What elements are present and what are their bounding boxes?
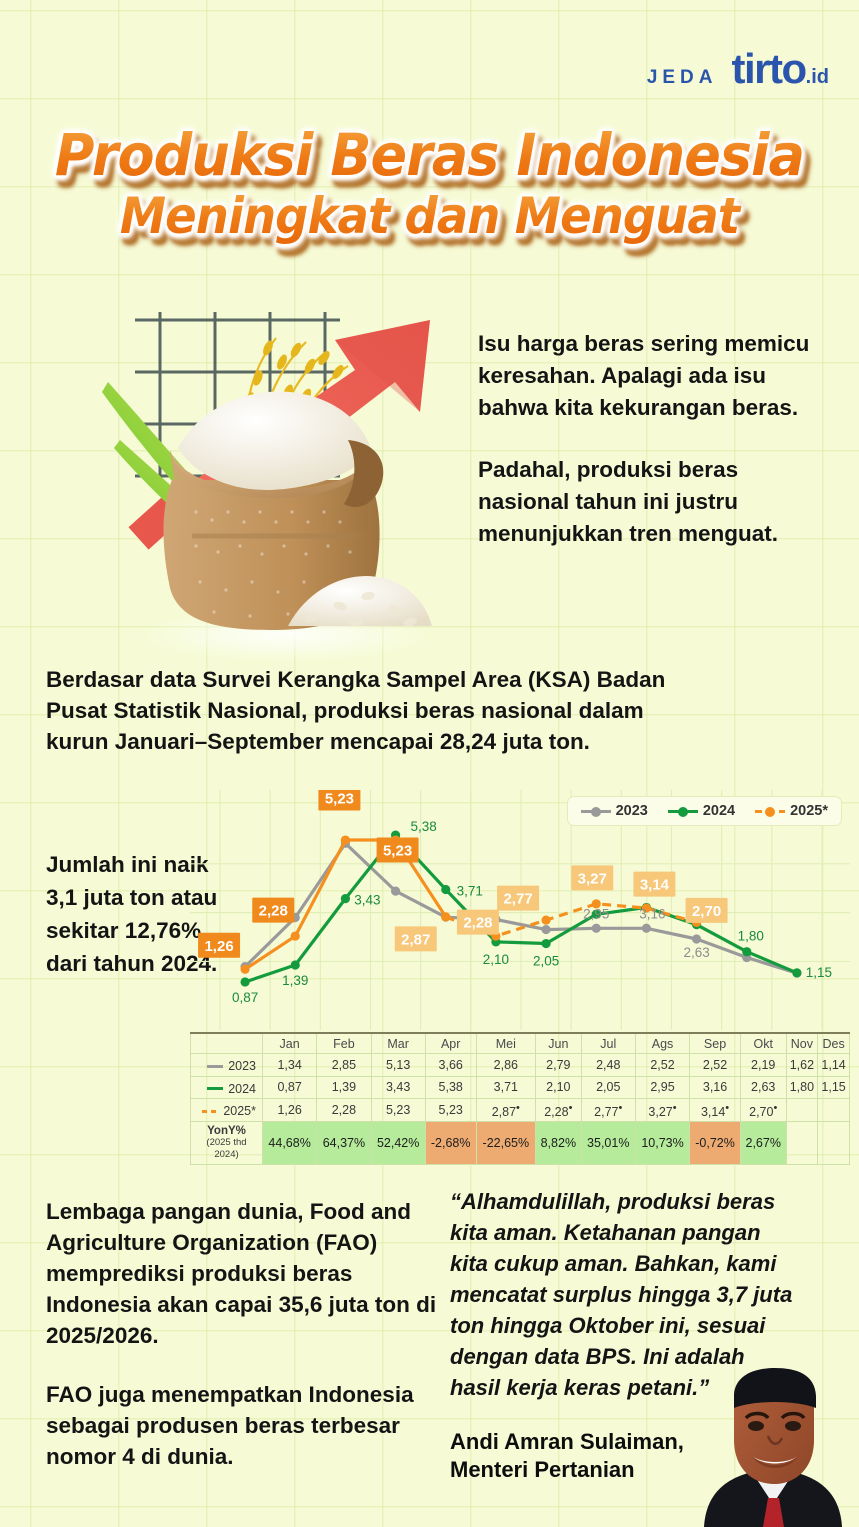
yony-sublabel-text: (2025 thd 2024) xyxy=(193,1137,260,1161)
table-header-row: JanFebMarAprMeiJunJulAgsSepOktNovDes xyxy=(191,1033,850,1054)
table-cell: 0,87 xyxy=(263,1076,317,1099)
estimate-star-icon: • xyxy=(673,1102,677,1114)
estimate-star-icon: • xyxy=(773,1102,777,1114)
svg-text:3,14: 3,14 xyxy=(640,877,670,894)
legend-swatch-2025-icon xyxy=(755,805,785,817)
chart-data-table: JanFebMarAprMeiJunJulAgsSepOktNovDes 202… xyxy=(190,1032,850,1165)
tirto-logo-text: tirto xyxy=(732,45,806,92)
table-col-header-okt: Okt xyxy=(740,1033,786,1054)
table-cell: 1,34 xyxy=(263,1054,317,1077)
estimate-star-icon: • xyxy=(619,1102,623,1114)
table-cell: 3,14• xyxy=(690,1099,741,1122)
table-cell: 5,23 xyxy=(425,1099,476,1122)
table-cell: 3,43 xyxy=(371,1076,425,1099)
table-cell: 2,95 xyxy=(635,1076,689,1099)
svg-text:2,05: 2,05 xyxy=(533,954,559,969)
row-line-swatch-icon xyxy=(202,1110,218,1113)
legend-swatch-2023-icon xyxy=(581,805,611,817)
table-row-label-2024: 2024 xyxy=(191,1076,263,1099)
svg-text:2,70: 2,70 xyxy=(692,903,721,920)
table-cell: 2,85 xyxy=(317,1054,371,1077)
yony-cell: 64,37% xyxy=(317,1122,371,1165)
tirto-tld-text: .id xyxy=(806,66,829,88)
intro-paragraph-2: Padahal, produksi beras nasional tahun i… xyxy=(478,454,828,550)
infographic-page: JEDA tirto.id Produksi Beras Indonesia M… xyxy=(0,0,859,1527)
table-cell: 5,38 xyxy=(425,1076,476,1099)
legend-swatch-2024-icon xyxy=(668,805,698,817)
yony-label-text: YonY% xyxy=(207,1125,246,1137)
yony-cell xyxy=(818,1122,850,1165)
rice-sack-illustration xyxy=(100,300,460,660)
table-cell: 2,79 xyxy=(536,1054,582,1077)
legend-label-2025: 2025* xyxy=(790,803,828,819)
table-cell: 5,23 xyxy=(371,1099,425,1122)
table-row-label-2025: 2025* xyxy=(191,1099,263,1122)
table-cell xyxy=(818,1099,850,1122)
table-cell: 1,26 xyxy=(263,1099,317,1122)
yony-cell: 35,01% xyxy=(581,1122,635,1165)
table-col-header-nov: Nov xyxy=(786,1033,818,1054)
intro-text-block: Isu harga beras sering memicu keresahan.… xyxy=(478,328,828,550)
table-cell: 2,52 xyxy=(635,1054,689,1077)
svg-text:1,39: 1,39 xyxy=(282,973,308,988)
legend-item-2024: 2024 xyxy=(668,803,735,819)
brand-masthead: JEDA tirto.id xyxy=(647,48,829,90)
table-cell: 3,71 xyxy=(476,1076,535,1099)
table-cell: 2,10 xyxy=(536,1076,582,1099)
table-cell: 3,16 xyxy=(690,1076,741,1099)
table-row: 20240,871,393,435,383,712,102,052,953,16… xyxy=(191,1076,850,1099)
table-cell: 1,14 xyxy=(818,1054,850,1077)
svg-text:2,87: 2,87 xyxy=(401,931,430,948)
svg-text:2,28: 2,28 xyxy=(463,915,492,932)
svg-text:2,77: 2,77 xyxy=(503,891,532,908)
fao-paragraph-2: FAO juga menempatkan Indonesia sebagai p… xyxy=(46,1379,446,1472)
table-cell: 2,86 xyxy=(476,1054,535,1077)
svg-text:2,95: 2,95 xyxy=(583,906,609,921)
table-col-header-des: Des xyxy=(818,1033,850,1054)
portrait-figure xyxy=(704,1368,842,1527)
table-cell: 2,19 xyxy=(740,1054,786,1077)
table-row: 20231,342,855,133,662,862,792,482,522,52… xyxy=(191,1054,850,1077)
row-line-swatch-icon xyxy=(207,1087,223,1090)
chart-canvas: 0,871,393,435,383,712,102,051,801,152,95… xyxy=(190,790,850,1030)
yony-cell: 2,67% xyxy=(740,1122,786,1165)
fao-paragraph-1: Lembaga pangan dunia, Food and Agricultu… xyxy=(46,1196,446,1351)
table-col-header-jul: Jul xyxy=(581,1033,635,1054)
fao-text-block: Lembaga pangan dunia, Food and Agricultu… xyxy=(46,1196,446,1472)
table-cell: 2,28• xyxy=(536,1099,582,1122)
svg-text:2,10: 2,10 xyxy=(483,952,509,967)
title-line-1: Produksi Beras Indonesia xyxy=(30,124,829,186)
table-col-header-mei: Mei xyxy=(476,1033,535,1054)
row-line-swatch-icon xyxy=(207,1065,223,1068)
row-label-text: 2025* xyxy=(223,1104,256,1118)
table-col-header-mar: Mar xyxy=(371,1033,425,1054)
table-cell: 3,66 xyxy=(425,1054,476,1077)
table-cell: 1,80 xyxy=(786,1076,818,1099)
estimate-star-icon: • xyxy=(569,1102,573,1114)
table-cell: 2,87• xyxy=(476,1099,535,1122)
yony-cell: -2,68% xyxy=(425,1122,476,1165)
legend-item-2023: 2023 xyxy=(581,803,648,819)
yony-cell: 44,68% xyxy=(263,1122,317,1165)
table-row-label-2023: 2023 xyxy=(191,1054,263,1077)
production-line-chart: 0,871,393,435,383,712,102,051,801,152,95… xyxy=(190,790,850,1030)
intro-paragraph-1: Isu harga beras sering memicu keresahan.… xyxy=(478,328,828,424)
yony-cell: -0,72% xyxy=(690,1122,741,1165)
table-row-yony: YonY%(2025 thd 2024)44,68%64,37%52,42%-2… xyxy=(191,1122,850,1165)
lead-paragraph: Berdasar data Survei Kerangka Sampel Are… xyxy=(46,664,666,757)
table-cell: 2,63 xyxy=(740,1076,786,1099)
table-col-header-feb: Feb xyxy=(317,1033,371,1054)
table-col-header-sep: Sep xyxy=(690,1033,741,1054)
chart-legend: 2023 2024 2025* xyxy=(567,796,842,826)
yony-cell xyxy=(786,1122,818,1165)
svg-text:3,43: 3,43 xyxy=(354,893,380,908)
yony-cell: -22,65% xyxy=(476,1122,535,1165)
table-cell: 2,48 xyxy=(581,1054,635,1077)
table-col-header-jun: Jun xyxy=(536,1033,582,1054)
legend-label-2024: 2024 xyxy=(703,803,735,819)
svg-text:1,15: 1,15 xyxy=(806,965,832,980)
table-col-header-blank xyxy=(191,1033,263,1054)
svg-text:2,63: 2,63 xyxy=(683,945,709,960)
estimate-star-icon: • xyxy=(516,1102,520,1114)
table-cell: 2,52 xyxy=(690,1054,741,1077)
yony-cell: 10,73% xyxy=(635,1122,689,1165)
svg-text:2,28: 2,28 xyxy=(259,903,288,920)
table-cell: 2,77• xyxy=(581,1099,635,1122)
table-cell: 1,62 xyxy=(786,1054,818,1077)
minister-portrait xyxy=(676,1368,859,1527)
svg-text:3,71: 3,71 xyxy=(457,884,483,899)
legend-item-2025: 2025* xyxy=(755,803,828,819)
svg-text:1,80: 1,80 xyxy=(738,929,764,944)
table-cell: 1,39 xyxy=(317,1076,371,1099)
svg-text:1,26: 1,26 xyxy=(204,938,233,955)
svg-text:3,27: 3,27 xyxy=(578,870,607,887)
table-col-header-apr: Apr xyxy=(425,1033,476,1054)
svg-text:5,23: 5,23 xyxy=(383,843,412,860)
svg-text:3,16: 3,16 xyxy=(639,906,665,921)
estimate-star-icon: • xyxy=(725,1102,729,1114)
table-cell: 2,28 xyxy=(317,1099,371,1122)
table-col-header-ags: Ags xyxy=(635,1033,689,1054)
svg-text:5,38: 5,38 xyxy=(410,819,436,834)
page-title: Produksi Beras Indonesia Meningkat dan M… xyxy=(0,124,859,244)
table-cell: 5,13 xyxy=(371,1054,425,1077)
svg-text:0,87: 0,87 xyxy=(232,990,258,1005)
title-line-2: Meningkat dan Menguat xyxy=(30,188,829,244)
jeda-logo-text: JEDA xyxy=(647,67,718,89)
table-cell: 2,05 xyxy=(581,1076,635,1099)
yony-cell: 52,42% xyxy=(371,1122,425,1165)
table-col-header-jan: Jan xyxy=(263,1033,317,1054)
table-cell: 2,70• xyxy=(740,1099,786,1122)
table-cell: 3,27• xyxy=(635,1099,689,1122)
legend-label-2023: 2023 xyxy=(616,803,648,819)
yony-cell: 8,82% xyxy=(536,1122,582,1165)
row-label-text: 2023 xyxy=(228,1059,256,1073)
table-row: 2025*1,262,285,235,232,87•2,28•2,77•3,27… xyxy=(191,1099,850,1122)
row-label-text: 2024 xyxy=(228,1082,256,1096)
table-cell: 1,15 xyxy=(818,1076,850,1099)
yony-row-label: YonY%(2025 thd 2024) xyxy=(191,1122,263,1165)
table-cell xyxy=(786,1099,818,1122)
svg-text:5,23: 5,23 xyxy=(325,791,354,808)
